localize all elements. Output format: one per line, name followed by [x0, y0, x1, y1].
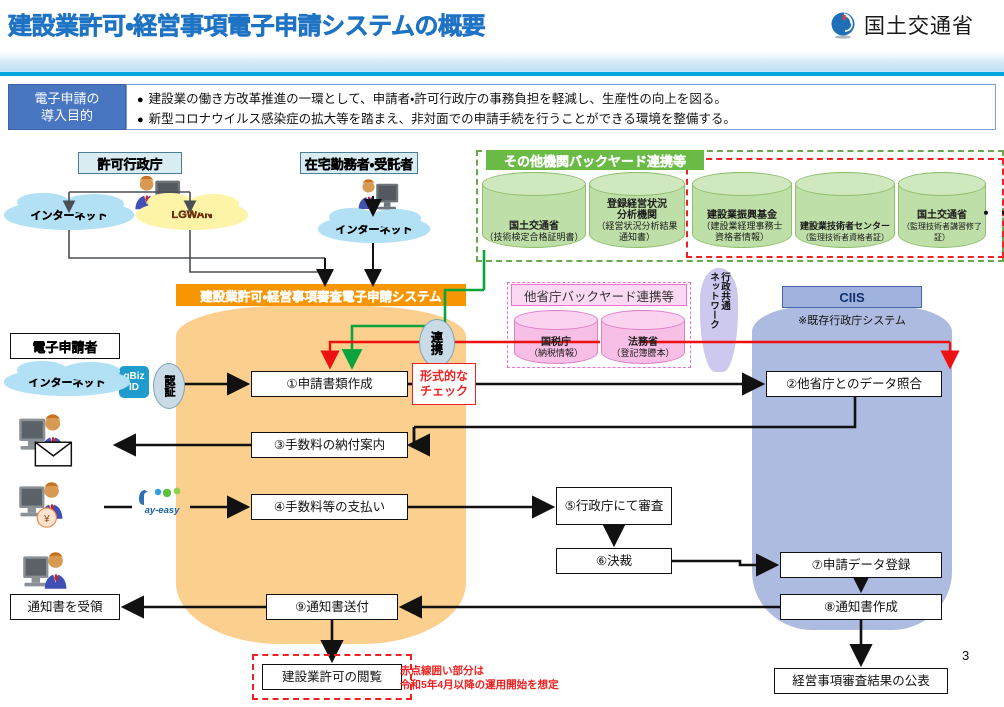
database-label: 国土交通省 （監理技術者講習修了証） — [899, 210, 985, 247]
person-pc-icon-notice — [23, 552, 66, 589]
db-name: 登録経営状況 分析機関 — [590, 199, 684, 221]
database-cylinder-icon — [482, 172, 586, 196]
database-cylinder-icon — [589, 172, 685, 196]
ministry-logo: 国土交通省 — [828, 8, 1004, 42]
publish-result-box[interactable]: 経営事項審査結果の公表 — [774, 668, 948, 694]
purpose-label-line1: 電子申請の — [34, 90, 99, 107]
db-name: 建設業技術者センター — [796, 221, 894, 232]
database-label: 登録経営状況 分析機関 （経営状況分析結果 通知書） — [590, 199, 684, 247]
database-label: 法務省 （登記簿謄本） — [602, 337, 684, 363]
ciis-body — [752, 306, 952, 630]
ministry-name: 国土交通省 — [864, 10, 974, 40]
process-step-5[interactable]: ⑤行政庁にて審査 — [556, 487, 672, 525]
process-step-8[interactable]: ⑧通知書作成 — [780, 594, 942, 620]
cloud-internet-agency: インターネット — [4, 200, 134, 230]
db-name: 建設業振興基金 — [693, 210, 791, 221]
cloud-internet-applicant: インターネット — [4, 368, 130, 396]
cloud-internet-teleworker: インターネット — [318, 215, 430, 243]
person-pc-yen-icon: ¥ — [19, 482, 62, 527]
linkage-label: 連携 — [429, 331, 446, 355]
purpose-item-2: ●新型コロナウイルス感染症の拡大等を踏まえ、非対面での申請手続を行うことができる… — [137, 110, 987, 130]
cloud-lgwan: LGWAN — [136, 200, 248, 230]
purpose-body: ●建設業の働き方改革推進の一環として、申請者・許可行政庁の事務負担を軽減し、生産… — [126, 84, 996, 130]
purpose-label: 電子申請の 導入目的 — [8, 84, 126, 130]
purpose-item-1: ●建設業の働き方改革推進の一環として、申請者・許可行政庁の事務負担を軽減し、生産… — [137, 90, 987, 110]
database-cylinder-promotion-fund: 建設業振興基金 （建設業経理事務士 資格者情報） — [692, 172, 792, 248]
database-label: 建設業振興基金 （建設業経理事務士 資格者情報） — [693, 210, 791, 247]
db-detail: （監理技術者講習修了証） — [902, 222, 982, 242]
gbiz-line2: ID — [129, 382, 139, 393]
ciis-title: CIIS — [782, 286, 922, 308]
actor-label-teleworker: 在宅勤務者・受託者 — [300, 152, 418, 174]
database-cylinder-icon — [601, 310, 685, 330]
bullet-icon: ● — [137, 114, 144, 126]
database-cylinder-icon — [514, 310, 598, 330]
db-detail: （監理技術者資格者証） — [801, 233, 889, 242]
database-cylinder-nta: 国税庁 （納税情報） — [514, 310, 598, 364]
page-number: 3 — [962, 648, 969, 663]
db-detail: （納税情報） — [529, 348, 583, 358]
process-step-2[interactable]: ②他省庁とのデータ照合 — [766, 371, 942, 397]
db-detail: （技術検定合格証明書） — [484, 232, 583, 242]
purpose-label-line2: 導入目的 — [41, 107, 93, 124]
database-cylinder-engineer-center: 建設業技術者センター （監理技術者資格者証） — [795, 172, 895, 248]
browse-permit-box[interactable]: 建設業許可の閲覧 — [262, 664, 402, 690]
cloud-label: インターネット — [29, 374, 106, 390]
applicant-title: 電子申請者 — [10, 333, 120, 359]
purpose-item-2-text: 新型コロナウイルス感染症の拡大等を踏まえ、非対面での申請手続を行うことができる環… — [149, 112, 736, 126]
government-network-labels: ネットワーク 行政共通 — [700, 272, 738, 372]
process-step-9[interactable]: ⑨通知書送付 — [266, 594, 398, 620]
db-name: 法務省 — [602, 337, 684, 348]
authentication-label: 認証 — [161, 375, 177, 397]
process-step-6[interactable]: ⑥決裁 — [556, 548, 672, 574]
database-cylinder-icon — [692, 172, 792, 196]
ministry-backyard-title: 他省庁バックヤード連携等 — [511, 284, 687, 306]
person-pc-icon-teleworker — [359, 179, 399, 209]
process-step-3[interactable]: ③手数料の納付案内 — [251, 432, 408, 458]
db-name: 国土交通省 — [483, 221, 585, 232]
cloud-label: LGWAN — [172, 209, 213, 221]
ministry-swirl-logo-icon — [828, 10, 858, 40]
db-name: 国税庁 — [515, 337, 597, 348]
process-step-7[interactable]: ⑦申請データ登録 — [780, 552, 942, 578]
network-label-line1: 行政共通 — [719, 272, 730, 310]
network-label-line2: ネットワーク — [708, 272, 719, 329]
other-agency-backyard-title: その他機関バックヤード連携等 — [486, 150, 704, 170]
db-name: 国土交通省 — [899, 210, 985, 221]
database-label: 建設業技術者センター （監理技術者資格者証） — [796, 221, 894, 247]
format-check-label: 形式的な チェック — [420, 369, 468, 399]
authentication-badge: 認証 — [153, 363, 185, 409]
red-note-line1: 赤点線囲い部分は — [400, 664, 640, 678]
purpose-item-1-text: 建設業の働き方改革推進の一環として、申請者・許可行政庁の事務負担を軽減し、生産性… — [149, 92, 727, 106]
db-detail: （建設業経理事務士 資格者情報） — [701, 221, 782, 242]
application-system-title: 建設業許可・経営事項審査電子申請システム — [176, 284, 466, 306]
database-cylinder-mlit-1: 国土交通省 （技術検定合格証明書） — [482, 172, 586, 248]
database-cylinder-moj: 法務省 （登記簿謄本） — [601, 310, 685, 364]
red-note-line2: 令和5年4月以降の運用開始を想定 — [400, 678, 640, 692]
cloud-label: インターネット — [336, 221, 413, 237]
database-label: 国土交通省 （技術検定合格証明書） — [483, 221, 585, 247]
pay-easy-label: ay-easy — [133, 505, 191, 518]
db-detail: （登記簿謄本） — [611, 348, 674, 358]
receive-notice-box[interactable]: 通知書を受領 — [10, 594, 120, 620]
database-label: 国税庁 （納税情報） — [515, 337, 597, 363]
actor-label-licensing-agency: 許可行政庁 — [78, 152, 182, 174]
format-check-box: 形式的な チェック — [412, 363, 476, 405]
linkage-badge: 連携 — [419, 319, 455, 367]
process-step-4[interactable]: ④手数料等の支払い — [251, 494, 408, 520]
svg-text:¥: ¥ — [43, 514, 50, 525]
bullet-icon: ● — [137, 94, 144, 106]
header-accent-rule — [0, 72, 1004, 76]
ciis-subtitle: ※既存行政庁システム — [762, 312, 942, 328]
pay-easy-logo-icon — [139, 488, 180, 505]
database-cylinder-icon — [795, 172, 895, 196]
page-title: 建設業許可・経営事項電子申請システムの概要 — [8, 6, 668, 40]
database-cylinder-icon — [898, 172, 986, 196]
database-cylinder-analysis-org: 登録経営状況 分析機関 （経営状況分析結果 通知書） — [589, 172, 685, 248]
person-pc-envelope-icon — [19, 414, 71, 465]
db-detail: （経営状況分析結果 通知書） — [596, 221, 677, 242]
cloud-label: インターネット — [31, 207, 108, 223]
database-cylinder-mlit-2: 国土交通省 （監理技術者講習修了証） — [898, 172, 986, 248]
red-dashed-note: 赤点線囲い部分は 令和5年4月以降の運用開始を想定 — [400, 664, 640, 692]
process-step-1[interactable]: ①申請書類作成 — [251, 371, 408, 397]
